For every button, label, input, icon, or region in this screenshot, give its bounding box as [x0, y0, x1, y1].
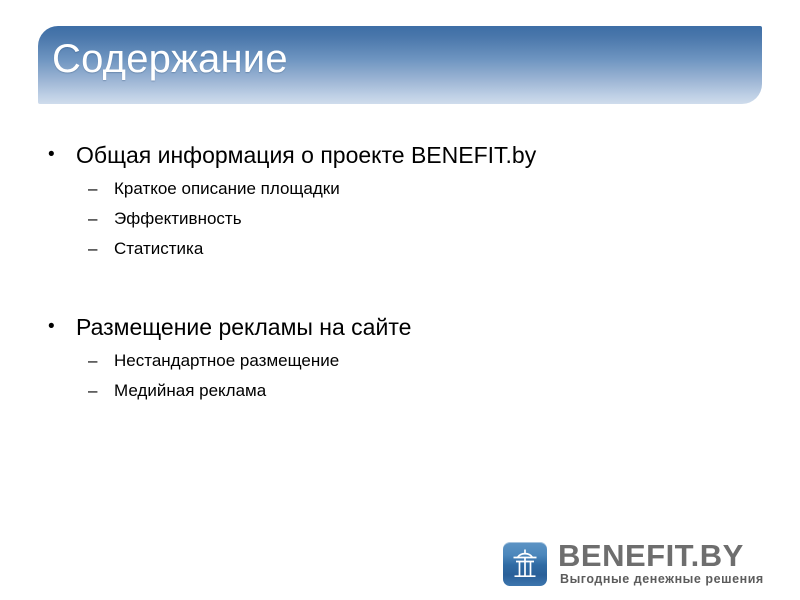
bullet-level2-label: Статистика — [114, 239, 203, 258]
bullet-level2-label: Нестандартное размещение — [114, 351, 339, 370]
bullet-dash-icon: – — [88, 174, 97, 204]
bullet-level2: – Краткое описание площадки — [44, 174, 744, 204]
bullet-dot-icon: • — [48, 138, 55, 172]
bullet-dash-icon: – — [88, 376, 97, 406]
bullet-level2: – Эффективность — [44, 204, 744, 234]
logo-wordmark: BENEFIT.BY — [558, 540, 744, 572]
bullet-level1: • Размещение рекламы на сайте — [44, 310, 744, 344]
bullet-level1-label: Размещение рекламы на сайте — [76, 314, 411, 340]
bullet-level2: – Статистика — [44, 234, 744, 264]
benefit-by-logo: BENEFIT.BY Выгодные денежные решения — [503, 540, 786, 588]
slide-title-banner: Содержание — [38, 26, 762, 104]
slide-body-content: • Общая информация о проекте BENEFIT.by … — [44, 138, 744, 406]
presentation-slide: Содержание • Общая информация о проекте … — [0, 0, 800, 600]
bullet-level1: • Общая информация о проекте BENEFIT.by — [44, 138, 744, 172]
bullet-dash-icon: – — [88, 234, 97, 264]
bullet-level2: – Нестандартное размещение — [44, 346, 744, 376]
outline-group-spacer — [44, 264, 744, 310]
bank-building-icon — [510, 548, 540, 579]
slide-title: Содержание — [52, 32, 288, 86]
bullet-level1-label: Общая информация о проекте BENEFIT.by — [76, 142, 536, 168]
logo-mark-tile — [503, 542, 547, 586]
logo-tagline: Выгодные денежные решения — [560, 572, 764, 587]
bullet-dot-icon: • — [48, 310, 55, 344]
bullet-dash-icon: – — [88, 346, 97, 376]
bullet-level2-label: Эффективность — [114, 209, 242, 228]
bullet-level2-label: Краткое описание площадки — [114, 179, 340, 198]
bullet-level2: – Медийная реклама — [44, 376, 744, 406]
bullet-level2-label: Медийная реклама — [114, 381, 266, 400]
bullet-dash-icon: – — [88, 204, 97, 234]
